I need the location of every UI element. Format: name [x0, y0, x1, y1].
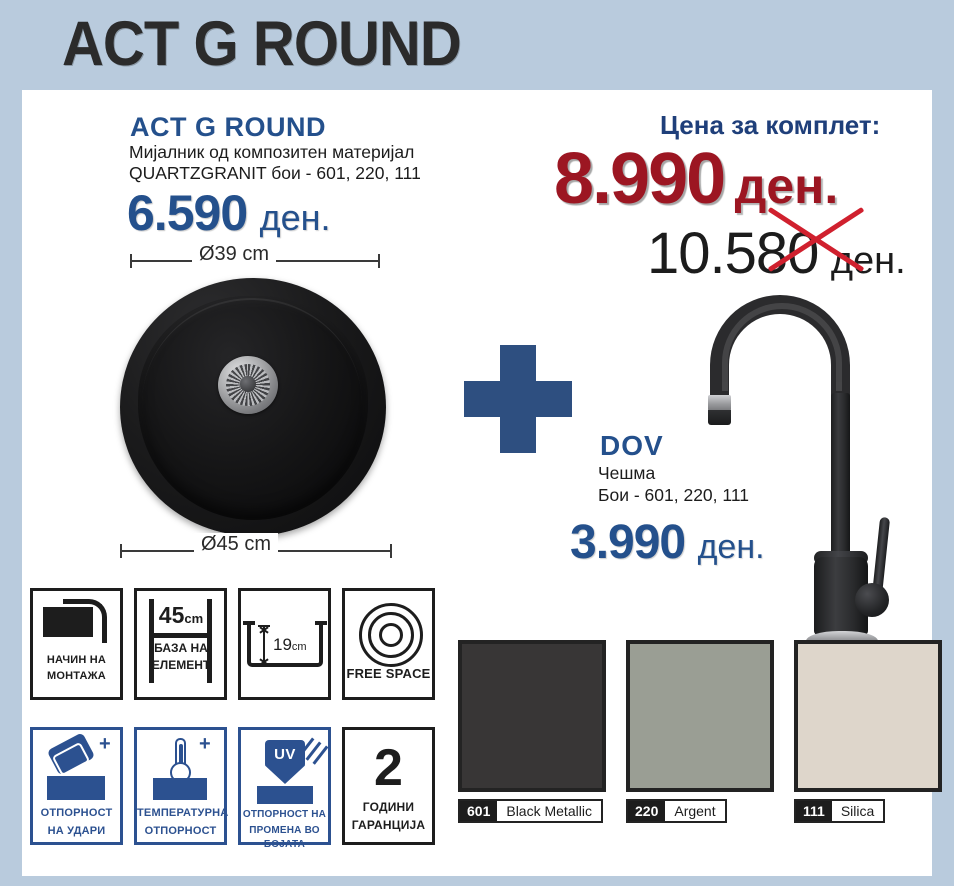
swatch-label: 601 Black Metallic [458, 799, 603, 823]
feature-label-line2: ЕЛЕМЕНТ [145, 658, 217, 672]
plus-vertical-bar [500, 345, 536, 453]
set-price-title: Цена за комплет: [660, 110, 880, 141]
swatch-name: Argent [665, 801, 724, 821]
color-swatch-111[interactable]: 111 Silica [794, 640, 942, 823]
feature-label-line2: НА УДАРИ [33, 824, 120, 838]
feature-label-line2: ОТПОРНОСТ [137, 824, 224, 838]
feature-label-line1: ОТПОРНОСТ НА [241, 808, 328, 822]
feature-label-line1: ГОДИНИ [345, 800, 432, 814]
feature-temperature-resistance: + ТЕМПЕРАТУРНА ОТПОРНОСТ [134, 727, 227, 845]
sink-price: 6.590 [127, 185, 247, 241]
dim-cap-right [378, 254, 380, 268]
set-price: 8.990 [554, 139, 724, 219]
sink-bowl-dimension-line: Ø39 cm [130, 252, 380, 268]
feature-free-space: FREE SPACE [342, 588, 435, 700]
page-title: ACT G ROUND [62, 8, 461, 80]
faucet-product-name: DOV [600, 430, 664, 462]
sink-price-row: 6.590 ден. [127, 184, 331, 242]
header-band: ACT G ROUND [0, 0, 954, 90]
old-price-currency: ден. [831, 240, 906, 282]
dim-cap-right [390, 544, 392, 558]
cabinet-base-value: 45 [159, 602, 185, 628]
swatch-chip [458, 640, 606, 792]
content-sheet: ACT G ROUND Мијалник од композитен матер… [22, 90, 932, 876]
feature-warranty: 2 ГОДИНИ ГАРАНЦИЈА [342, 727, 435, 845]
sink-description-2: QUARTZGRANIT бои - 601, 220, 111 [129, 163, 421, 184]
sink-illustration [120, 278, 390, 536]
feature-label-line2: ГАРАНЦИЈА [345, 818, 432, 832]
swatch-chip [626, 640, 774, 792]
faucet-price: 3.990 [570, 516, 685, 569]
set-price-currency: ден. [735, 158, 839, 214]
mounting-hook-icon [63, 599, 107, 643]
feature-label-line1: ТЕМПЕРАТУРНА [137, 806, 224, 820]
swatch-label: 111 Silica [794, 799, 885, 823]
color-swatch-601[interactable]: 601 Black Metallic [458, 640, 606, 823]
faucet-description-1: Чешма [598, 463, 655, 484]
free-space-ring-3 [379, 623, 403, 647]
faucet-aerator-ring [708, 395, 731, 411]
faucet-column [831, 393, 850, 568]
feature-impact-resistance: + ОТПОРНОСТ НА УДАРИ [30, 727, 123, 845]
feature-label-line2: ПРОМЕНА ВО БОЈАТА [241, 824, 328, 852]
bowl-depth-value: 19 [273, 635, 292, 654]
impact-plus-badge: + [99, 736, 111, 752]
old-price-row: 10.580 ден. [647, 220, 906, 287]
sink-product-name: ACT G ROUND [130, 112, 326, 143]
feature-label-line2: МОНТАЖА [33, 669, 120, 683]
sink-bowl-dimension-label: Ø39 cm [192, 243, 276, 266]
swatch-code: 601 [460, 801, 497, 821]
color-swatch-220[interactable]: 220 Argent [626, 640, 774, 823]
feature-mounting: НАЧИН НА МОНТАЖА [30, 588, 123, 700]
sink-drain-icon [218, 356, 278, 414]
faucet-description-2: Бои - 601, 220, 111 [598, 485, 749, 506]
feature-label-line1: ОТПОРНОСТ [33, 806, 120, 820]
feature-color-fastness: UV ОТПОРНОСТ НА ПРОМЕНА ВО БОЈАТА [238, 727, 331, 845]
faucet-aerator-tip [708, 410, 731, 425]
impact-surface [47, 776, 105, 800]
temperature-plus-badge: + [199, 736, 211, 752]
feature-bowl-depth: 19cm [238, 588, 331, 700]
feature-label-line1: FREE SPACE [345, 667, 432, 681]
bowl-depth-label-group: 19cm [273, 635, 307, 655]
faucet-lever-hub [855, 583, 889, 617]
bowl-depth-unit: cm [292, 641, 307, 653]
uv-surface [257, 786, 313, 804]
feature-cabinet-base: 45cm БАЗА НА ЕЛЕМЕНТ [134, 588, 227, 700]
swatch-chip [794, 640, 942, 792]
warranty-icon: 2 [345, 740, 432, 796]
swatch-name: Silica [832, 801, 883, 821]
cabinet-base-unit: cm [184, 611, 203, 626]
sink-price-currency: ден. [260, 197, 331, 238]
set-price-row: 8.990 ден. [554, 138, 838, 220]
cabinet-base-value-group: 45cm [151, 600, 211, 634]
swatch-label: 220 Argent [626, 799, 727, 823]
swatch-name: Black Metallic [497, 801, 601, 821]
sink-outer-dimension-line: Ø45 cm [120, 542, 392, 558]
temperature-surface [153, 778, 207, 800]
swatch-code: 111 [796, 801, 832, 821]
sink-description-1: Мијалник од композитен материјал [129, 142, 414, 163]
feature-label-line1: БАЗА НА [145, 641, 217, 655]
faucet-price-row: 3.990 ден. [570, 515, 765, 570]
feature-label-line1: НАЧИН НА [33, 653, 120, 667]
sink-outer-dimension-label: Ø45 cm [194, 533, 278, 556]
sink-drain-hub [240, 376, 256, 392]
swatch-code: 220 [628, 801, 665, 821]
plus-icon [464, 345, 572, 453]
faucet-price-currency: ден. [698, 528, 765, 566]
